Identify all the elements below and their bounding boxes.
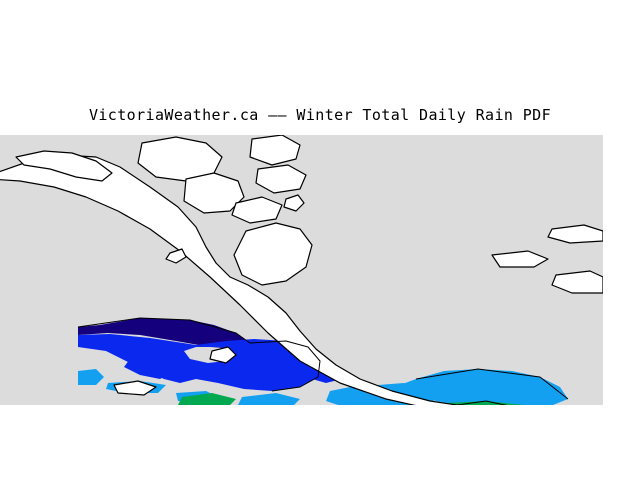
colorbar-area: 25.027.029.031.033.035.037.039.041.0 99t… <box>0 420 640 480</box>
map-canvas[interactable] <box>0 135 603 405</box>
map-panel[interactable] <box>0 135 603 405</box>
weather-map-figure: VictoriaWeather.ca —— Winter Total Daily… <box>0 0 640 480</box>
figure-title: VictoriaWeather.ca —— Winter Total Daily… <box>0 106 640 124</box>
